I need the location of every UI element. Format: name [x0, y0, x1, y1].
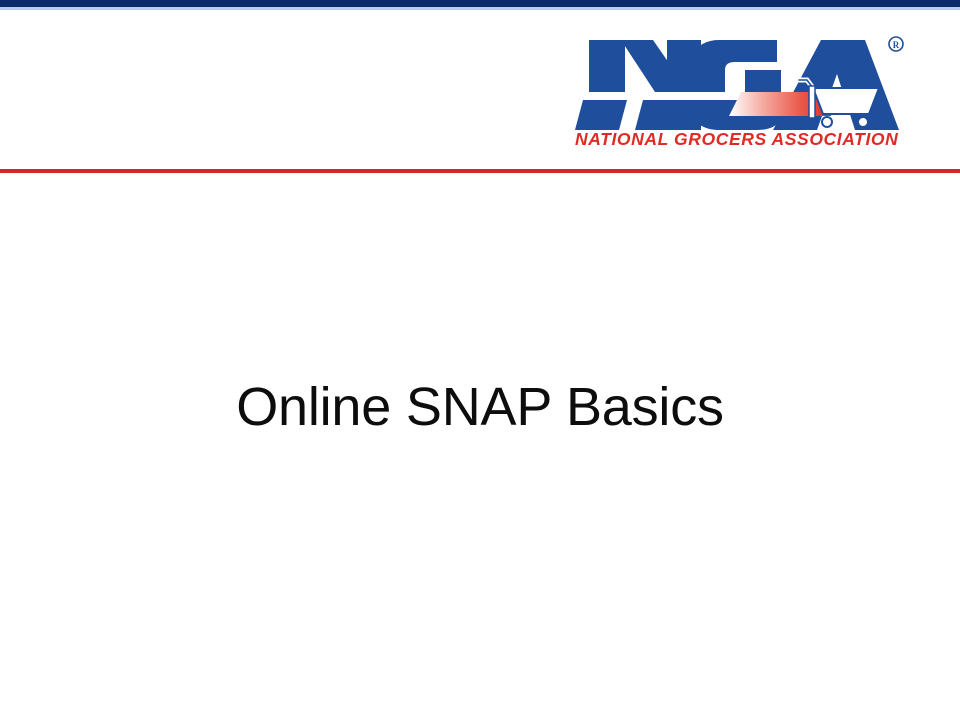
registered-trademark-icon: R — [889, 37, 903, 51]
nga-logo: R NATIONAL GROCERS ASSOCIATION — [569, 30, 909, 148]
top-navy-bar — [0, 0, 960, 7]
nga-logo-graphic: R NATIONAL GROCERS ASSOCIATION — [569, 30, 909, 148]
title-block: Online SNAP Basics — [72, 378, 888, 437]
logo-tagline: NATIONAL GROCERS ASSOCIATION — [575, 129, 898, 148]
logo-letter-a — [773, 40, 899, 130]
svg-text:R: R — [893, 40, 900, 50]
logo-letter-g — [689, 40, 781, 130]
logo-letter-n — [575, 40, 701, 130]
slide-body: Online SNAP Basics — [0, 173, 960, 720]
slide-title: Online SNAP Basics — [72, 378, 888, 437]
slide-canvas: R NATIONAL GROCERS ASSOCIATION Online SN… — [0, 0, 960, 720]
header-band: R NATIONAL GROCERS ASSOCIATION — [0, 10, 960, 170]
